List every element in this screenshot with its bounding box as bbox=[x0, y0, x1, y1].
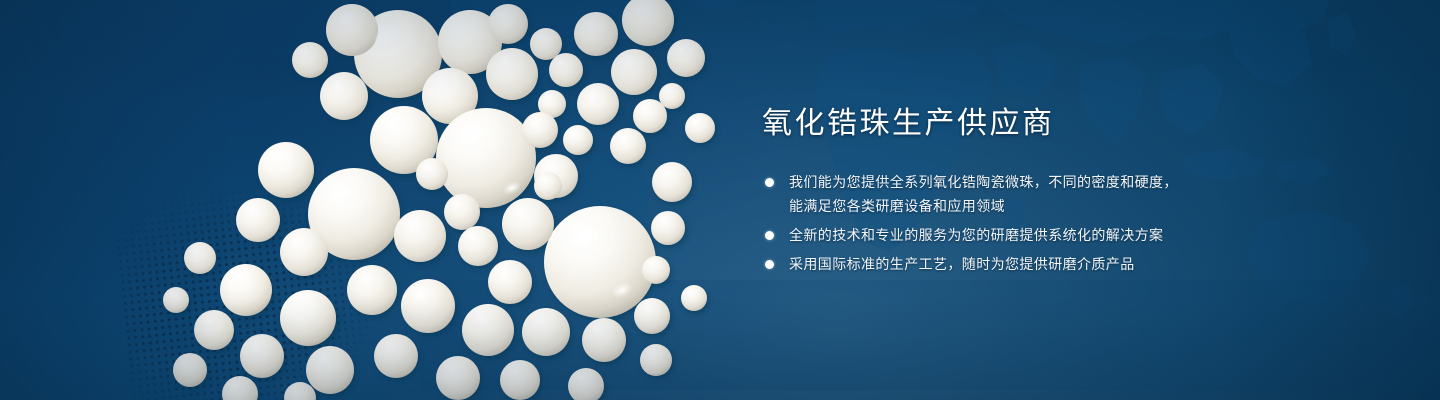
feature-bullet-1-line2: 能满足您各类研磨设备和应用领域 bbox=[789, 194, 1232, 218]
feature-bullet-3-line1: 采用国际标准的生产工艺，随时为您提供研磨介质产品 bbox=[789, 256, 1135, 272]
feature-bullet-list: 我们能为您提供全系列氧化锆陶瓷微珠，不同的密度和硬度， 能满足您各类研磨设备和应… bbox=[762, 170, 1232, 276]
feature-bullet-2: 全新的技术和专业的服务为您的研磨提供系统化的解决方案 bbox=[762, 223, 1232, 247]
hero-banner: 氧化锆珠生产供应商 我们能为您提供全系列氧化锆陶瓷微珠，不同的密度和硬度， 能满… bbox=[0, 0, 1440, 400]
banner-headline: 氧化锆珠生产供应商 bbox=[762, 104, 1232, 144]
bullet-dot-icon bbox=[765, 178, 774, 187]
feature-bullet-1-line1: 我们能为您提供全系列氧化锆陶瓷微珠，不同的密度和硬度， bbox=[789, 174, 1178, 190]
feature-bullet-3: 采用国际标准的生产工艺，随时为您提供研磨介质产品 bbox=[762, 252, 1232, 276]
bullet-dot-icon bbox=[765, 231, 774, 240]
feature-bullet-1: 我们能为您提供全系列氧化锆陶瓷微珠，不同的密度和硬度， 能满足您各类研磨设备和应… bbox=[762, 170, 1232, 218]
banner-copy: 氧化锆珠生产供应商 我们能为您提供全系列氧化锆陶瓷微珠，不同的密度和硬度， 能满… bbox=[762, 104, 1232, 276]
bullet-dot-icon bbox=[765, 260, 774, 269]
feature-bullet-2-line1: 全新的技术和专业的服务为您的研磨提供系统化的解决方案 bbox=[789, 227, 1163, 243]
